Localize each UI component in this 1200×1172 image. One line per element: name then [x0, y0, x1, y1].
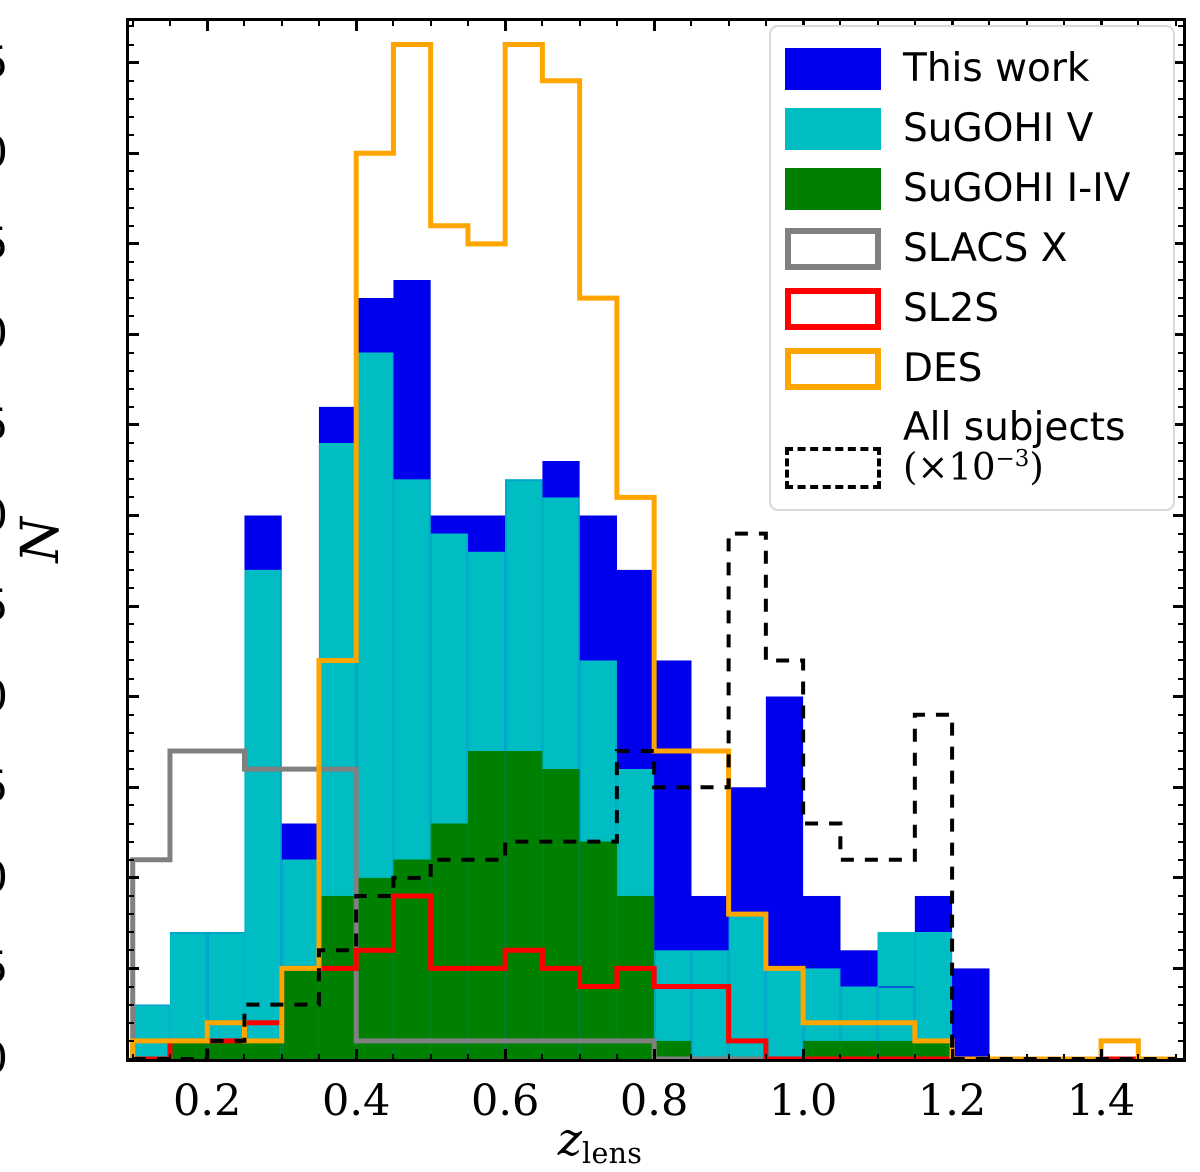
- y-tick-minor: [126, 352, 134, 354]
- legend-all-subjects-scale: (×10−3): [903, 448, 1125, 486]
- x-tick-minor: [765, 1054, 767, 1062]
- y-tick-major-right: [1173, 605, 1186, 608]
- legend-item-all-subjects[interactable]: All subjects(×10−3): [785, 399, 1159, 495]
- y-tick-minor-right: [1178, 587, 1186, 589]
- x-tick-major-top: [653, 18, 656, 31]
- y-tick-minor: [126, 533, 134, 535]
- y-tick-minor-right: [1178, 279, 1186, 281]
- y-tick-minor-right: [1178, 297, 1186, 299]
- x-tick-minor: [579, 1054, 581, 1062]
- y-tick-minor: [126, 225, 134, 227]
- y-tick-minor-right: [1178, 823, 1186, 825]
- x-tick-minor: [132, 1054, 134, 1062]
- y-tick-minor-right: [1178, 352, 1186, 354]
- y-tick-minor-right: [1178, 188, 1186, 190]
- y-tick-minor-right: [1178, 768, 1186, 770]
- x-tick-label: 1.0: [769, 1076, 837, 1126]
- x-tick-minor-top: [430, 18, 432, 26]
- y-tick-minor: [126, 895, 134, 897]
- y-axis-title: N: [11, 517, 71, 563]
- histogram-bar: [654, 1041, 691, 1059]
- histogram-bar: [356, 878, 393, 1059]
- histogram-bar: [878, 932, 915, 1059]
- y-tick-major: [126, 876, 139, 879]
- x-tick-minor: [1175, 1054, 1177, 1062]
- x-tick-label: 1.2: [918, 1076, 986, 1126]
- y-tick-minor: [126, 134, 134, 136]
- legend-item-label: SuGOHI V: [903, 109, 1093, 149]
- x-tick-major: [1100, 1049, 1103, 1062]
- histogram-bar: [580, 842, 617, 1059]
- y-tick-major: [126, 423, 139, 426]
- histogram-bar: [244, 1041, 281, 1059]
- y-tick-label: 25: [0, 581, 8, 631]
- y-tick-minor: [126, 315, 134, 317]
- x-tick-major: [653, 1049, 656, 1062]
- x-tick-major: [355, 1049, 358, 1062]
- legend-item-sugohi-v[interactable]: SuGOHI V: [785, 99, 1159, 159]
- y-tick-label: 45: [0, 219, 8, 269]
- legend-swatch-filled: [785, 48, 881, 90]
- y-tick-minor-right: [1178, 170, 1186, 172]
- y-tick-minor: [126, 659, 134, 661]
- y-tick-minor-right: [1178, 478, 1186, 480]
- y-tick-minor: [126, 913, 134, 915]
- x-tick-major-top: [504, 18, 507, 31]
- y-tick-minor-right: [1178, 641, 1186, 643]
- y-tick-label: 5: [0, 943, 8, 993]
- y-tick-minor: [126, 279, 134, 281]
- x-tick-minor: [616, 1054, 618, 1062]
- y-tick-minor-right: [1178, 1022, 1186, 1024]
- y-tick-minor: [126, 442, 134, 444]
- legend-swatch-dashed: [785, 447, 881, 489]
- y-tick-minor-right: [1178, 207, 1186, 209]
- histogram-bar: [244, 570, 281, 1059]
- y-tick-label: 15: [0, 762, 8, 812]
- y-tick-major: [126, 514, 139, 517]
- y-tick-minor-right: [1178, 80, 1186, 82]
- y-tick-minor-right: [1178, 261, 1186, 263]
- legend-swatch-filled: [785, 168, 881, 210]
- y-tick-minor-right: [1178, 569, 1186, 571]
- x-tick-major-top: [355, 18, 358, 31]
- y-tick-minor: [126, 623, 134, 625]
- y-tick-minor: [126, 732, 134, 734]
- y-tick-minor: [126, 750, 134, 752]
- y-tick-minor: [126, 496, 134, 498]
- x-tick-minor: [392, 1054, 394, 1062]
- x-tick-minor-top: [541, 18, 543, 26]
- y-tick-minor-right: [1178, 134, 1186, 136]
- x-tick-minor: [914, 1054, 916, 1062]
- x-tick-minor-top: [281, 18, 283, 26]
- x-tick-minor: [1137, 1054, 1139, 1062]
- y-tick-minor: [126, 714, 134, 716]
- y-tick-major: [126, 605, 139, 608]
- y-tick-minor-right: [1178, 44, 1186, 46]
- y-tick-minor: [126, 406, 134, 408]
- legend-item-label: All subjects(×10−3): [903, 408, 1125, 486]
- y-tick-major: [126, 61, 139, 64]
- histogram-bar: [468, 751, 505, 1059]
- y-tick-minor-right: [1178, 714, 1186, 716]
- histogram-bar: [617, 896, 654, 1059]
- y-tick-minor-right: [1178, 370, 1186, 372]
- y-tick-minor-right: [1178, 931, 1186, 933]
- y-tick-minor: [126, 98, 134, 100]
- histogram-bar: [282, 968, 319, 1059]
- legend-box: This workSuGOHI VSuGOHI I-IVSLACS XSL2SD…: [769, 25, 1175, 511]
- y-tick-minor-right: [1178, 406, 1186, 408]
- x-tick-minor-top: [616, 18, 618, 26]
- histogram-bar: [766, 968, 803, 1059]
- x-tick-minor-top: [467, 18, 469, 26]
- y-tick-minor: [126, 460, 134, 462]
- y-tick-major: [126, 152, 139, 155]
- y-tick-minor: [126, 986, 134, 988]
- y-tick-minor: [126, 80, 134, 82]
- y-tick-minor-right: [1178, 732, 1186, 734]
- y-tick-minor: [126, 569, 134, 571]
- x-tick-minor: [169, 1054, 171, 1062]
- legend-item-label: DES: [903, 349, 982, 389]
- y-tick-minor-right: [1178, 1004, 1186, 1006]
- x-tick-minor: [318, 1054, 320, 1062]
- y-tick-major: [126, 333, 139, 336]
- x-tick-minor-top: [765, 18, 767, 26]
- legend-item-sugohi-i-iv[interactable]: SuGOHI I-IV: [785, 159, 1159, 219]
- y-tick-minor: [126, 641, 134, 643]
- y-tick-major: [126, 786, 139, 789]
- y-tick-major: [126, 242, 139, 245]
- y-tick-label: 40: [0, 309, 8, 359]
- legend-item-label: SuGOHI I-IV: [903, 169, 1130, 209]
- y-tick-minor-right: [1178, 913, 1186, 915]
- x-tick-minor-top: [392, 18, 394, 26]
- histogram-bar: [840, 1041, 877, 1059]
- y-tick-minor: [126, 841, 134, 843]
- histogram-bar: [393, 860, 430, 1059]
- y-tick-minor: [126, 931, 134, 933]
- y-tick-minor: [126, 388, 134, 390]
- y-tick-minor: [126, 1022, 134, 1024]
- y-tick-label: 55: [0, 38, 8, 88]
- legend-item-label: This work: [903, 49, 1089, 89]
- histogram-bar: [803, 1041, 840, 1059]
- y-tick-major-right: [1173, 967, 1186, 970]
- histogram-figure: N zlens 05101520253035404550550.20.40.60…: [0, 0, 1200, 1172]
- x-tick-major: [802, 1049, 805, 1062]
- x-tick-minor: [541, 1054, 543, 1062]
- y-tick-minor: [126, 188, 134, 190]
- y-tick-minor-right: [1178, 225, 1186, 227]
- x-tick-label: 1.4: [1067, 1076, 1135, 1126]
- histogram-bar: [133, 1005, 170, 1059]
- y-tick-minor-right: [1178, 315, 1186, 317]
- x-tick-major: [504, 1049, 507, 1062]
- y-tick-minor: [126, 1040, 134, 1042]
- y-tick-minor: [126, 297, 134, 299]
- y-tick-minor-right: [1178, 25, 1186, 27]
- x-tick-minor: [877, 1054, 879, 1062]
- x-tick-minor-top: [132, 18, 134, 26]
- y-tick-minor: [126, 1004, 134, 1006]
- y-tick-minor: [126, 370, 134, 372]
- y-tick-minor: [126, 804, 134, 806]
- y-tick-major: [126, 967, 139, 970]
- x-tick-minor-top: [728, 18, 730, 26]
- y-tick-minor-right: [1178, 442, 1186, 444]
- x-tick-minor-top: [690, 18, 692, 26]
- x-tick-major-top: [206, 18, 209, 31]
- y-tick-major-right: [1173, 786, 1186, 789]
- legend-swatch-outline: [785, 288, 881, 330]
- y-tick-minor-right: [1178, 496, 1186, 498]
- legend-item-sl2s[interactable]: SL2S: [785, 279, 1159, 339]
- x-tick-minor-top: [243, 18, 245, 26]
- legend-all-subjects-line1: All subjects: [903, 405, 1125, 450]
- legend-item-this-work[interactable]: This work: [785, 39, 1159, 99]
- legend-swatch-outline: [785, 348, 881, 390]
- y-tick-minor-right: [1178, 986, 1186, 988]
- y-tick-minor: [126, 551, 134, 553]
- y-tick-minor-right: [1178, 949, 1186, 951]
- legend-swatch-filled: [785, 108, 881, 150]
- y-tick-minor-right: [1178, 841, 1186, 843]
- y-tick-label: 50: [0, 128, 8, 178]
- x-tick-minor: [690, 1054, 692, 1062]
- y-tick-minor-right: [1178, 1040, 1186, 1042]
- histogram-bar: [878, 1041, 915, 1059]
- y-tick-minor-right: [1178, 388, 1186, 390]
- x-tick-minor: [243, 1054, 245, 1062]
- histogram-bar: [207, 1041, 244, 1059]
- x-tick-minor: [1063, 1054, 1065, 1062]
- y-tick-minor: [126, 207, 134, 209]
- x-tick-minor: [467, 1054, 469, 1062]
- x-tick-minor: [281, 1054, 283, 1062]
- x-axis-title-sub: lens: [582, 1137, 642, 1170]
- y-tick-minor: [126, 116, 134, 118]
- y-tick-minor: [126, 44, 134, 46]
- histogram-bar: [170, 1041, 207, 1059]
- y-tick-minor-right: [1178, 678, 1186, 680]
- x-tick-label: 0.4: [322, 1076, 390, 1126]
- x-tick-minor-top: [169, 18, 171, 26]
- y-tick-label: 20: [0, 672, 8, 722]
- y-tick-minor-right: [1178, 551, 1186, 553]
- y-tick-major: [126, 695, 139, 698]
- y-tick-minor-right: [1178, 895, 1186, 897]
- y-tick-major-right: [1173, 695, 1186, 698]
- x-tick-label: 0.8: [620, 1076, 688, 1126]
- y-tick-minor: [126, 170, 134, 172]
- y-tick-minor: [126, 678, 134, 680]
- x-tick-major: [951, 1049, 954, 1062]
- y-tick-minor-right: [1178, 750, 1186, 752]
- y-tick-minor: [126, 261, 134, 263]
- x-axis-title-base: z: [558, 1112, 582, 1166]
- legend-item-slacs-x[interactable]: SLACS X: [785, 219, 1159, 279]
- x-tick-minor: [988, 1054, 990, 1062]
- legend-item-label: SL2S: [903, 289, 999, 329]
- y-tick-major-right: [1173, 514, 1186, 517]
- y-tick-minor: [126, 949, 134, 951]
- y-tick-minor-right: [1178, 623, 1186, 625]
- x-tick-label: 0.6: [471, 1076, 539, 1126]
- legend-item-label: SLACS X: [903, 229, 1067, 269]
- y-tick-label: 0: [0, 1034, 8, 1084]
- y-tick-minor-right: [1178, 116, 1186, 118]
- y-tick-minor-right: [1178, 98, 1186, 100]
- y-tick-minor: [126, 587, 134, 589]
- x-tick-minor-top: [579, 18, 581, 26]
- y-tick-minor-right: [1178, 533, 1186, 535]
- y-tick-minor: [126, 823, 134, 825]
- x-tick-major: [206, 1049, 209, 1062]
- x-tick-minor: [1026, 1054, 1028, 1062]
- y-tick-label: 10: [0, 853, 8, 903]
- x-tick-minor-top: [1175, 18, 1177, 26]
- y-tick-minor: [126, 859, 134, 861]
- y-tick-minor-right: [1178, 659, 1186, 661]
- histogram-bar: [952, 968, 989, 1059]
- y-tick-major-right: [1173, 876, 1186, 879]
- histogram-bar: [505, 751, 542, 1059]
- y-tick-minor-right: [1178, 460, 1186, 462]
- y-tick-label: 30: [0, 491, 8, 541]
- x-tick-minor-top: [318, 18, 320, 26]
- histogram-bar: [729, 914, 766, 1059]
- legend-swatch-outline: [785, 228, 881, 270]
- y-tick-minor: [126, 768, 134, 770]
- histogram-bar: [319, 896, 356, 1059]
- y-tick-minor-right: [1178, 804, 1186, 806]
- y-tick-minor-right: [1178, 859, 1186, 861]
- y-tick-label: 35: [0, 400, 8, 450]
- x-tick-minor: [728, 1054, 730, 1062]
- y-tick-minor: [126, 478, 134, 480]
- histogram-bar: [915, 1041, 952, 1059]
- histogram-bar: [691, 950, 728, 1059]
- x-tick-minor: [839, 1054, 841, 1062]
- x-tick-minor: [430, 1054, 432, 1062]
- legend-item-des[interactable]: DES: [785, 339, 1159, 399]
- histogram-bar: [542, 769, 579, 1059]
- x-tick-label: 0.2: [173, 1076, 241, 1126]
